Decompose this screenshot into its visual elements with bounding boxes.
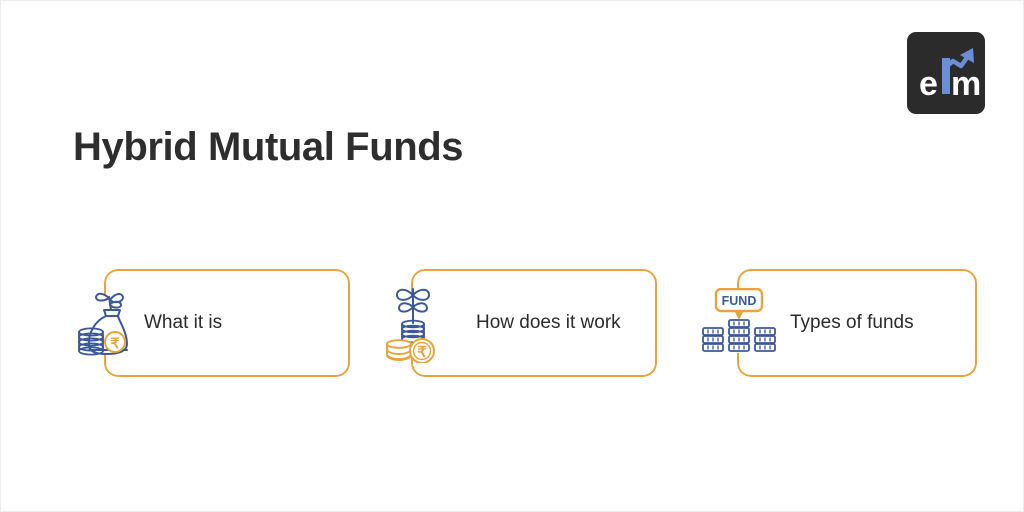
fund-coin-stacks-icon: FUND [701,288,777,358]
fund-badge-label: FUND [722,294,757,308]
card-what-it-is[interactable]: ₹ What it is [104,269,350,377]
page-title: Hybrid Mutual Funds [73,125,463,170]
card-label: What it is [144,312,222,334]
money-bag-plant-icon: ₹ [75,287,137,359]
infographic-canvas: e m Hybrid Mutual Funds [0,0,1024,512]
elm-logo-mark: e m [907,32,985,114]
svg-text:₹: ₹ [111,335,120,351]
svg-text:₹: ₹ [417,344,427,361]
fund-badge: FUND [716,289,762,320]
logo-letter-e: e [919,65,938,103]
logo-letter-m: m [951,65,981,103]
card-label: How does it work [476,312,621,334]
growth-coins-plant-icon: ₹ [384,283,442,363]
card-border [104,269,350,377]
elm-logo: e m [907,32,985,114]
card-how-does-it-work[interactable]: ₹ How does it work [411,269,657,377]
card-label: Types of funds [790,312,914,334]
card-types-of-funds[interactable]: FUND [737,269,977,377]
